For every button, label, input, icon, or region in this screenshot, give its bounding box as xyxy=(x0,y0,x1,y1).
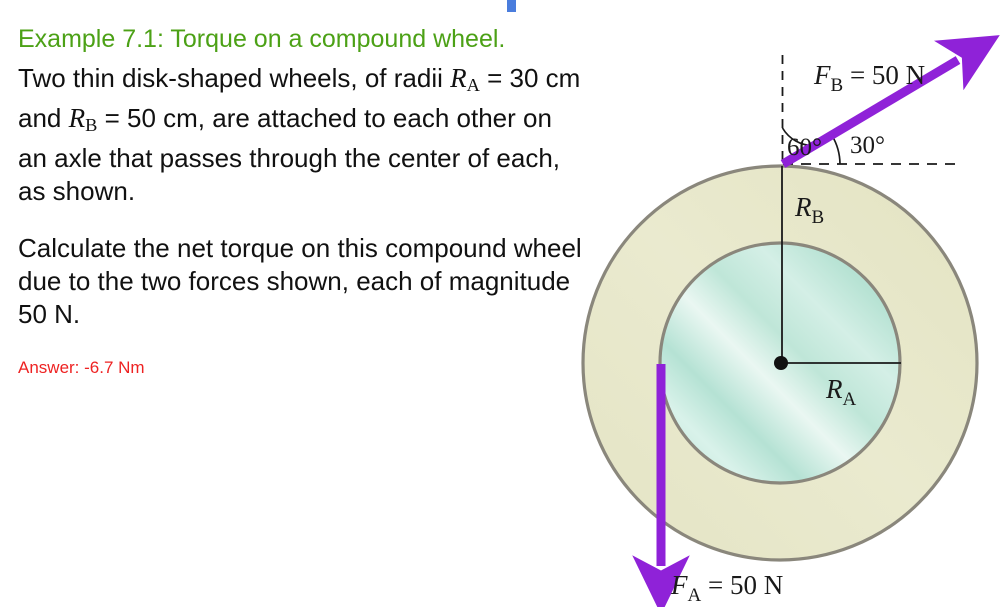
force-b-label-value: = 50 N xyxy=(843,60,925,90)
radius-a-label-symbol: R xyxy=(825,374,843,404)
force-a-label-subscript: A xyxy=(688,585,702,606)
radius-b-label-subscript: B xyxy=(812,207,825,228)
diagram-svg: FB = 50 N FA = 50 N RB RA 60° 30° xyxy=(560,0,1007,607)
cut-off-text-fragment xyxy=(507,0,516,12)
radius-b-inline-letter: R xyxy=(69,103,86,133)
angle-arc-30 xyxy=(832,136,840,165)
radius-a-inline-symbol: RA xyxy=(450,63,480,93)
page-title: Example 7.1: Torque on a compound wheel. xyxy=(18,24,584,54)
force-b-label-subscript: B xyxy=(831,75,844,96)
radius-b-inline-subscript: B xyxy=(85,115,97,135)
problem-text-part-3: = 50 cm, are attached to each other on a… xyxy=(18,103,560,206)
radius-a-inline-letter: R xyxy=(450,63,467,93)
radius-b-inline-symbol: RB xyxy=(69,103,98,133)
question-paragraph: Calculate the net torque on this compoun… xyxy=(18,232,584,331)
force-a-label-value: = 50 N xyxy=(701,570,783,600)
text-column: Example 7.1: Torque on a compound wheel.… xyxy=(18,24,584,379)
problem-text-part-1: Two thin disk-shaped wheels, of radii xyxy=(18,63,450,93)
problem-statement-paragraph: Two thin disk-shaped wheels, of radii RA… xyxy=(18,62,584,208)
force-a-label: FA = 50 N xyxy=(670,570,783,606)
radius-a-label-subscript: A xyxy=(843,389,857,410)
compound-wheel-diagram: FB = 50 N FA = 50 N RB RA 60° 30° xyxy=(560,0,1007,607)
force-a-label-symbol: F xyxy=(670,570,688,600)
radius-b-label-symbol: R xyxy=(794,192,812,222)
slide-canvas: Example 7.1: Torque on a compound wheel.… xyxy=(0,0,1007,607)
angle-label-30: 30° xyxy=(850,132,885,159)
radius-a-inline-subscript: A xyxy=(467,75,480,95)
force-b-label-symbol: F xyxy=(813,60,831,90)
angle-label-60: 60° xyxy=(787,134,822,161)
axle-center-dot xyxy=(774,356,788,370)
answer-text: Answer: -6.7 Nm xyxy=(18,357,584,379)
